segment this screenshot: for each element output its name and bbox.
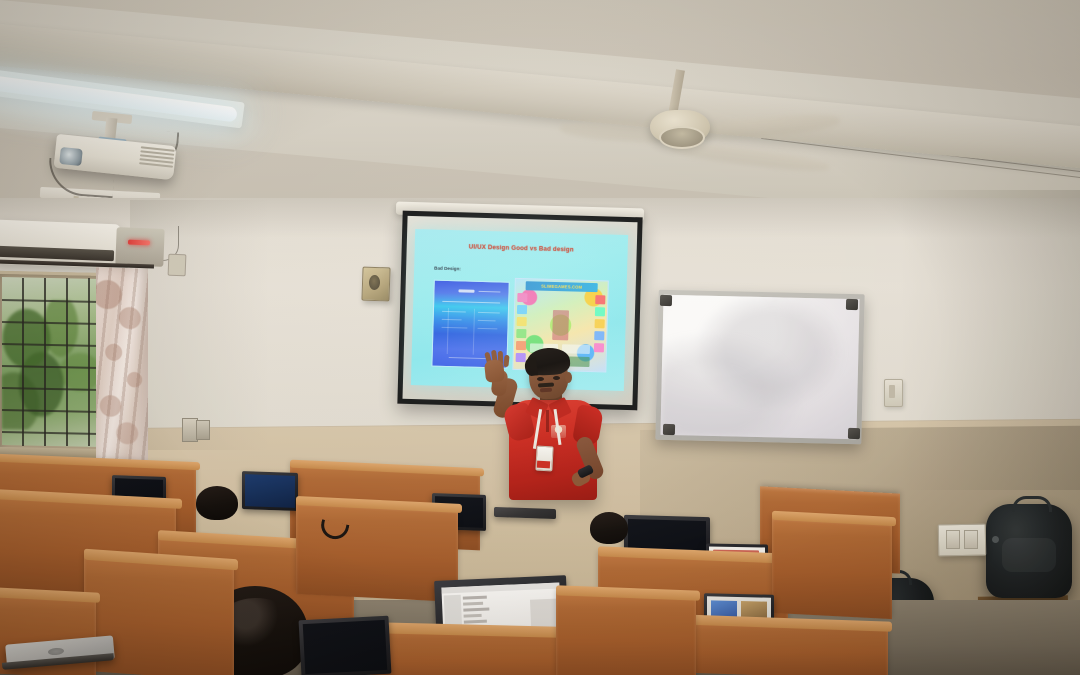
backpack-pocket [1002,538,1056,572]
classroom-photo: UI/UX Design Good vs Bad design Bad Desi… [0,0,1080,675]
slide-image-bad-design-right: SLIMEGAMES.COM [512,278,609,373]
projector-vents [139,144,175,167]
student-head [590,512,628,544]
wall-right-shading [900,190,1080,490]
whiteboard-smudge [660,295,859,439]
ceiling-fan-cap [659,126,705,149]
switch-key[interactable] [964,530,978,549]
backpack-handle [1012,496,1052,512]
electrical-box [196,420,210,440]
curtain-pattern [96,267,148,460]
projector-lens-icon [59,147,83,166]
wall-switch-key[interactable] [889,385,895,398]
monitor-screen [245,474,295,508]
window-bar [44,278,46,446]
whiteboard-corner [846,299,858,310]
whiteboard-corner [660,295,672,306]
window-bar [66,278,68,446]
slide-subtitle: Bad Design: [434,266,461,272]
ac-control-panel [115,227,164,267]
ac-power-plug [168,254,187,277]
monitor-edge [494,507,556,519]
desk-partition [772,517,892,619]
ac-led-indicator [128,240,150,246]
presentation-slide: UI/UX Design Good vs Bad design Bad Desi… [411,229,628,391]
student-head [196,486,238,520]
whiteboard-corner [663,424,675,435]
window-bar [22,278,24,446]
whiteboard-corner [848,428,860,439]
slide-image-bad-design-left [431,280,509,369]
desk-partition [556,591,696,675]
window-bar [88,278,90,446]
wall-switchboard[interactable] [938,524,987,557]
slide-title: UI/UX Design Good vs Bad design [415,242,628,255]
slide-right-banner: SLIMEGAMES.COM [526,281,598,292]
monitor-screen [303,620,388,674]
slide-right-banner-text: SLIMEGAMES.COM [526,281,598,292]
backpack-buckle [992,536,999,543]
switch-key[interactable] [946,530,960,549]
